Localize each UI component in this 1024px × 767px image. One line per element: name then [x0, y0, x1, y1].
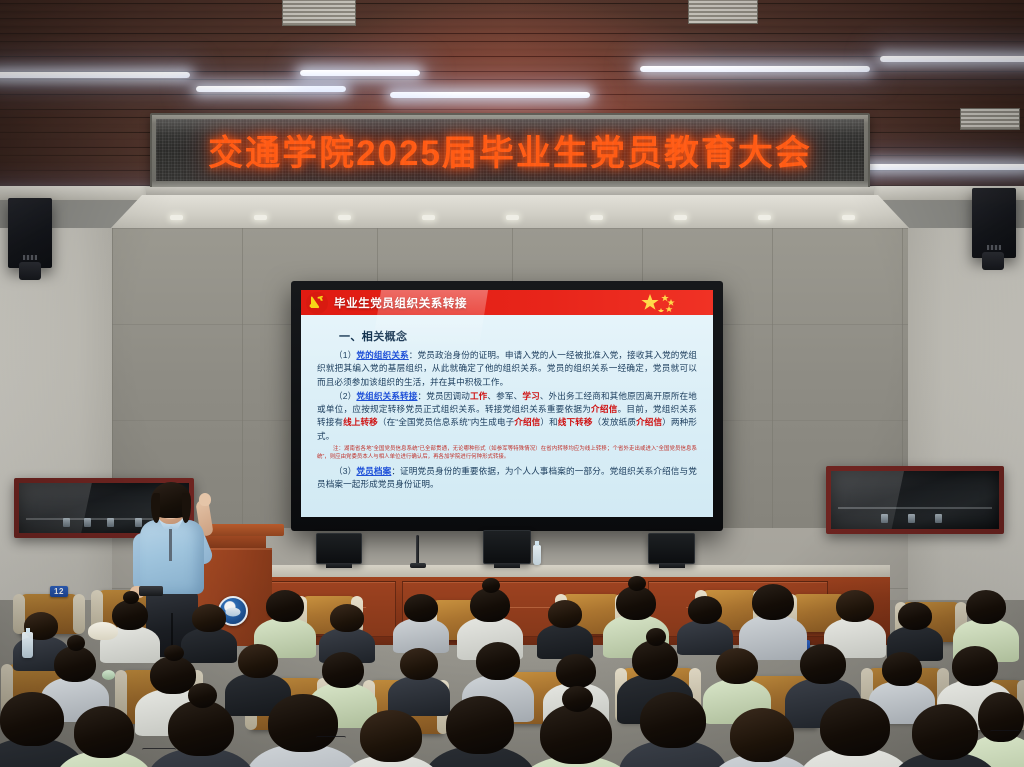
hair-scrunchie: [102, 670, 115, 680]
audience-head: [54, 646, 96, 682]
slide-section-heading: 一、相关概念: [339, 328, 697, 344]
trophy-case-right: [826, 466, 1004, 534]
ac-vent-icon: [282, 0, 356, 26]
ceiling-slat: [0, 34, 1024, 41]
audience-head: [400, 648, 438, 680]
led-banner-panel: 交通学院2025届毕业生党员教育大会: [156, 119, 864, 181]
slide-body: 一、相关概念 （1）党的组织关系：党员政治身份的证明。申请入党的人一经被批准入党…: [301, 315, 713, 491]
audience-head: [556, 654, 596, 688]
soffit-downlight: [170, 215, 183, 220]
ceiling-slat: [0, 42, 1024, 49]
soffit-downlight: [758, 215, 771, 220]
ac-vent-icon: [960, 108, 1020, 130]
presenter-shirt: [140, 520, 204, 594]
audience-head: [168, 700, 234, 756]
audience-glasses-icon: [142, 748, 176, 753]
case-glass-reflection: [14, 478, 93, 538]
audience-glasses-icon: [316, 736, 346, 741]
case-item: [63, 518, 70, 527]
audience-head: [476, 642, 520, 680]
audience-head: [404, 594, 438, 622]
audience-head: [952, 646, 998, 686]
soffit-downlight: [338, 215, 351, 220]
ceiling-light: [0, 72, 190, 78]
china-flag-stars-icon: [633, 292, 705, 312]
presenter-hand-right: [199, 493, 211, 506]
slide-paragraph-3: （3）党员档案：证明党员身份的重要依据，为个人人事档案的一部分。党组织关系介绍信…: [317, 465, 697, 492]
audience-head: [616, 586, 656, 620]
soffit-downlight: [590, 215, 603, 220]
presenter-hair-strand: [182, 493, 191, 523]
ceiling-slat: [0, 49, 1024, 56]
wall-seam: [112, 228, 908, 229]
audience-hair-bun: [67, 635, 85, 651]
ceiling-light: [640, 66, 870, 72]
paragraph-term: 党组织关系转接: [356, 391, 417, 401]
ac-vent-icon: [688, 0, 758, 24]
case-item: [881, 514, 888, 523]
projection-screen: 毕业生党员组织关系转接 一、相关概念 （1）党的组织关系：党员政治身份的证明。申…: [301, 290, 713, 517]
paragraph-term: 党的组织关系: [356, 350, 408, 360]
soffit-downlight: [506, 215, 519, 220]
audience-shoulders: [677, 620, 733, 655]
paragraph-number: （3）: [334, 466, 356, 476]
audience-hair-bun: [188, 683, 217, 708]
case-item: [935, 514, 942, 523]
wall-speaker-left: [8, 198, 52, 268]
ceiling-light: [300, 70, 420, 76]
audience-head: [360, 710, 422, 762]
led-sheen: [156, 119, 864, 135]
audience-hair-bun: [164, 645, 184, 662]
audience-head: [112, 600, 148, 630]
party-emblem-icon: [305, 291, 329, 315]
projection-screen-bezel: 毕业生党员组织关系转接 一、相关概念 （1）党的组织关系：党员政治身份的证明。申…: [291, 281, 723, 531]
ceiling-light: [390, 92, 590, 98]
audience-head: [640, 692, 706, 748]
audience-head: [268, 694, 338, 752]
audience-head: [540, 704, 612, 764]
audience-shoulders: [181, 628, 237, 663]
audience-water-bottle: [22, 632, 33, 658]
soffit-downlight: [674, 215, 687, 220]
paragraph-number: （1）: [334, 350, 356, 360]
soffit: [110, 195, 910, 229]
led-banner: 交通学院2025届毕业生党员教育大会: [150, 113, 870, 191]
ceiling-slat: [0, 0, 1024, 3]
ceiling-slat: [0, 64, 1024, 71]
presenter-hair-strand: [151, 493, 160, 523]
audience-head: [470, 588, 510, 622]
speaker-mount-icon: [982, 252, 1004, 270]
case-item: [908, 514, 915, 523]
lecture-hall-photo: 交通学院2025届毕业生党员教育大会: [0, 0, 1024, 767]
slide-note: 注：湖南省各地“全国党员信息系统”已全部贯通，无论哪种形式（如参军等特殊情况）在…: [317, 445, 697, 462]
audience-shoulders: [388, 676, 450, 716]
audience-head: [730, 708, 794, 762]
audience-head: [322, 652, 364, 688]
audience-head: [0, 692, 64, 746]
audience-glasses-icon: [990, 730, 1020, 735]
audience-hair-bun: [482, 578, 500, 593]
audience-white-cap: [88, 622, 118, 640]
audience-shoulders: [537, 624, 593, 659]
slide-title-banner: 毕业生党员组织关系转接: [301, 290, 713, 315]
slide-paragraph-2: （2）党组织关系转接：党员因调动工作、参军、学习、外出务工经商和其他原因离开原所…: [317, 390, 697, 443]
wall-seam: [242, 228, 243, 528]
seat-armrest: [73, 594, 85, 634]
case-glass-reflection: [826, 466, 905, 534]
audience-head: [238, 644, 278, 678]
ceiling-light: [196, 86, 346, 92]
soffit-downlight: [842, 215, 855, 220]
presenter-lanyard: [169, 529, 172, 561]
audience-head: [800, 644, 846, 684]
audience-head: [752, 584, 794, 620]
case-item: [84, 518, 91, 527]
audience-head: [966, 590, 1006, 624]
audience-hair-bun: [628, 576, 646, 591]
ceiling-slat: [0, 4, 1024, 11]
ceiling-slat: [0, 26, 1024, 33]
audience-head: [192, 604, 226, 632]
ceiling-slat: [0, 102, 1024, 109]
ceiling-slat: [0, 11, 1024, 18]
audience-head: [836, 590, 874, 622]
ceiling-slat: [0, 19, 1024, 26]
audience-head: [912, 704, 978, 760]
audience-head: [688, 596, 722, 624]
ceiling-light: [880, 56, 1024, 62]
wall-speaker-right: [972, 188, 1016, 258]
ceiling-slat: [0, 80, 1024, 87]
seat-number-badge: 12: [50, 586, 68, 597]
slide-paragraph-1: （1）党的组织关系：党员政治身份的证明。申请入党的人一经被批准入党，接收其入党的…: [317, 349, 697, 389]
audience-hair-bun: [646, 628, 666, 646]
case-item: [107, 518, 114, 527]
soffit-downlight: [254, 215, 267, 220]
ceiling-slat: [0, 57, 1024, 64]
audience-head: [716, 648, 758, 684]
slide-title: 毕业生党员组织关系转接: [334, 295, 467, 311]
paragraph-number: （2）: [334, 391, 356, 401]
audience-head: [446, 696, 514, 754]
audience-head: [266, 590, 304, 622]
soffit-downlight: [422, 215, 435, 220]
presentation-clicker: [139, 586, 163, 596]
audience-head: [898, 602, 932, 630]
wall-seam: [772, 228, 773, 528]
audience-head: [74, 706, 134, 758]
speaker-mount-icon: [19, 262, 41, 280]
audience-head: [632, 640, 678, 680]
paragraph-term: 党员档案: [356, 466, 391, 476]
audience-head: [882, 652, 922, 686]
audience-hair-bun: [123, 591, 139, 604]
desk-monitor: [483, 530, 531, 564]
audience-head: [820, 698, 890, 756]
audience-head: [330, 604, 364, 632]
audience-head: [548, 600, 582, 628]
